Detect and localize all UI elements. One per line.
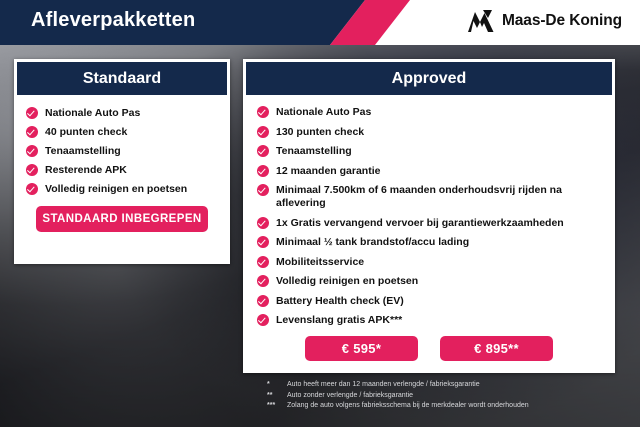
feature-label: 130 punten check (276, 126, 364, 139)
card-body-standaard: Nationale Auto Pas 40 punten check Tenaa… (14, 95, 230, 232)
feature-label: Nationale Auto Pas (45, 107, 140, 120)
feature-label: Resterende APK (45, 164, 127, 177)
list-item: Battery Health check (EV) (257, 295, 601, 308)
package-card-standaard: Standaard Nationale Auto Pas 40 punten c… (14, 59, 230, 264)
list-item: Nationale Auto Pas (26, 107, 218, 120)
list-item: 40 punten check (26, 126, 218, 139)
feature-label: Tenaamstelling (45, 145, 121, 158)
list-item: 12 maanden garantie (257, 165, 601, 178)
footnote-text: Auto heeft meer dan 12 maanden verlengde… (287, 380, 480, 391)
check-circle-icon (26, 145, 38, 157)
card-body-approved: Nationale Auto Pas 130 punten check Tena… (243, 95, 615, 361)
footnotes: * Auto heeft meer dan 12 maanden verleng… (267, 380, 529, 412)
feature-label: Levenslang gratis APK*** (276, 314, 402, 327)
list-item: Levenslang gratis APK*** (257, 314, 601, 327)
check-circle-icon (257, 314, 269, 326)
page-header: Afleverpakketten Maas-De Koning (0, 0, 640, 45)
price-button-895[interactable]: € 895** (440, 336, 553, 361)
price-button-row: € 595* € 895** (257, 336, 601, 361)
check-circle-icon (257, 165, 269, 177)
feature-label: Minimaal ½ tank brandstof/accu lading (276, 236, 469, 249)
check-circle-icon (257, 126, 269, 138)
list-item: Nationale Auto Pas (257, 106, 601, 119)
list-item: Minimaal ½ tank brandstof/accu lading (257, 236, 601, 249)
standaard-inbegrepen-button[interactable]: STANDAARD INBEGREPEN (36, 206, 208, 232)
check-circle-icon (257, 275, 269, 287)
list-item: Volledig reinigen en poetsen (257, 275, 601, 288)
list-item: Minimaal 7.500km of 6 maanden onderhouds… (257, 184, 601, 210)
feature-label: 12 maanden garantie (276, 165, 380, 178)
card-heading-approved: Approved (246, 62, 612, 95)
feature-label: Tenaamstelling (276, 145, 352, 158)
list-item: Tenaamstelling (26, 145, 218, 158)
list-item: 1x Gratis vervangend vervoer bij garanti… (257, 217, 601, 230)
check-circle-icon (257, 295, 269, 307)
list-item: Tenaamstelling (257, 145, 601, 158)
check-circle-icon (257, 184, 269, 196)
brand-name: Maas-De Koning (502, 12, 622, 30)
page-title: Afleverpakketten (31, 9, 195, 32)
feature-label: 1x Gratis vervangend vervoer bij garanti… (276, 217, 564, 230)
price-button-595[interactable]: € 595* (305, 336, 418, 361)
footnote-text: Zolang de auto volgens fabrieksschema bi… (287, 401, 529, 412)
brand-logo: Maas-De Koning (468, 10, 622, 32)
footnote-text: Auto zonder verlengde / fabrieksgarantie (287, 391, 413, 402)
footnote-marker: ** (267, 391, 287, 402)
footnote-row: * Auto heeft meer dan 12 maanden verleng… (267, 380, 529, 391)
card-heading-standaard: Standaard (17, 62, 227, 95)
feature-label: Nationale Auto Pas (276, 106, 371, 119)
check-circle-icon (26, 107, 38, 119)
feature-label: Volledig reinigen en poetsen (276, 275, 418, 288)
footnote-marker: * (267, 380, 287, 391)
feature-list-standaard: Nationale Auto Pas 40 punten check Tenaa… (26, 107, 218, 196)
check-circle-icon (257, 217, 269, 229)
feature-label: Battery Health check (EV) (276, 295, 404, 308)
footnote-marker: *** (267, 401, 287, 412)
check-circle-icon (257, 145, 269, 157)
list-item: Volledig reinigen en poetsen (26, 183, 218, 196)
check-circle-icon (257, 236, 269, 248)
check-circle-icon (26, 183, 38, 195)
list-item: 130 punten check (257, 126, 601, 139)
check-circle-icon (257, 256, 269, 268)
footnote-row: ** Auto zonder verlengde / fabrieksgaran… (267, 391, 529, 402)
package-card-approved: Approved Nationale Auto Pas 130 punten c… (243, 59, 615, 373)
maas-de-koning-m-logo-icon (468, 10, 494, 32)
feature-list-approved: Nationale Auto Pas 130 punten check Tena… (257, 106, 601, 327)
check-circle-icon (26, 126, 38, 138)
footnote-row: *** Zolang de auto volgens fabrieksschem… (267, 401, 529, 412)
list-item: Resterende APK (26, 164, 218, 177)
list-item: Mobiliteitsservice (257, 256, 601, 269)
feature-label: 40 punten check (45, 126, 127, 139)
feature-label: Minimaal 7.500km of 6 maanden onderhouds… (276, 184, 601, 210)
slide-root: Afleverpakketten Maas-De Koning Standaar… (0, 0, 640, 427)
check-circle-icon (257, 106, 269, 118)
feature-label: Volledig reinigen en poetsen (45, 183, 187, 196)
check-circle-icon (26, 164, 38, 176)
feature-label: Mobiliteitsservice (276, 256, 364, 269)
